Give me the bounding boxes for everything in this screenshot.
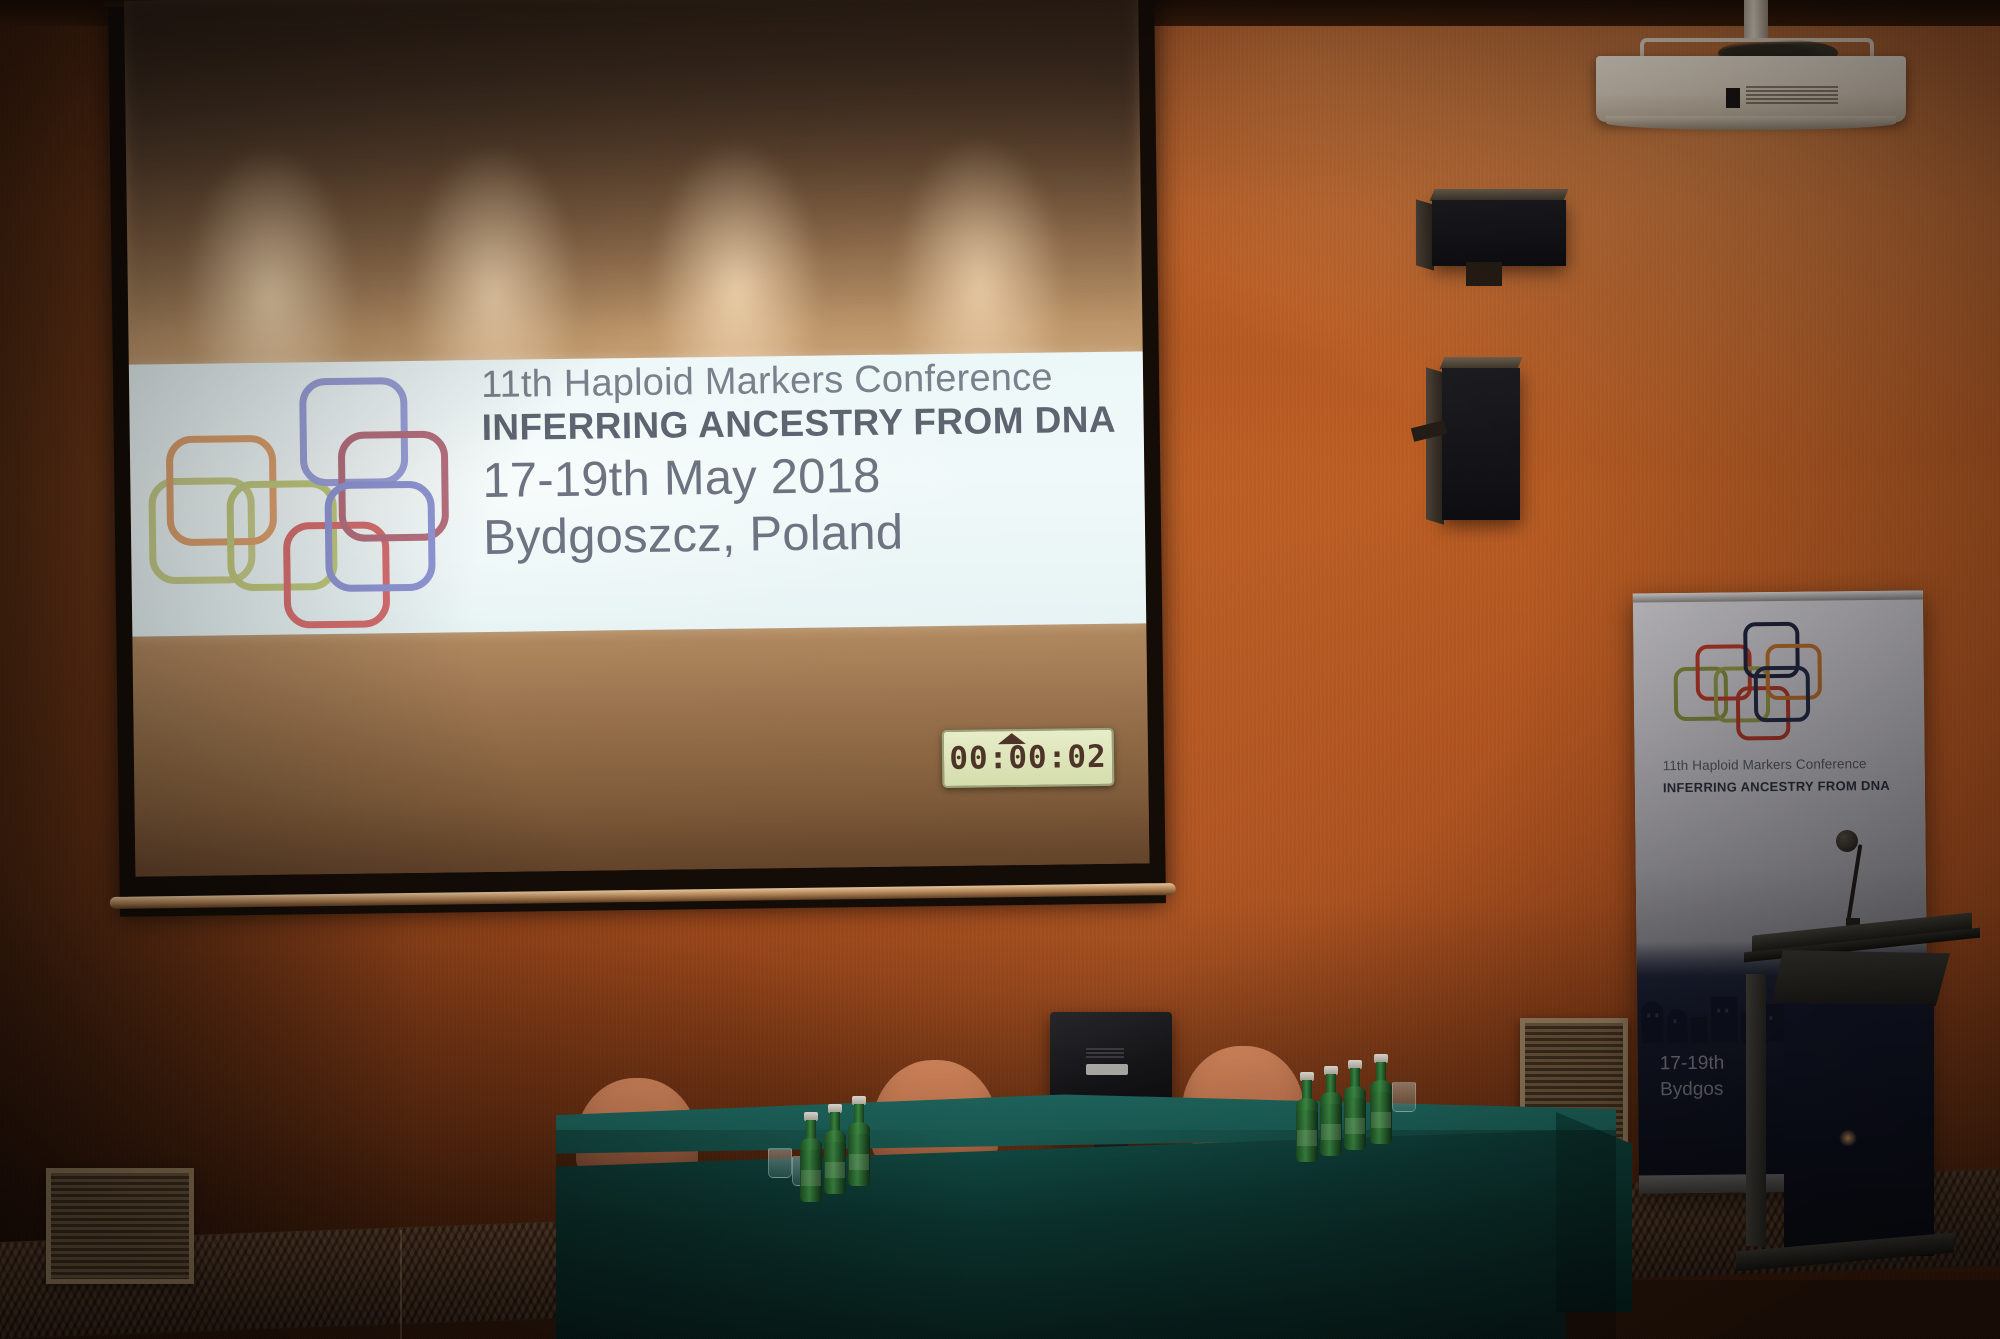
timer-value: 00:00:02 [949, 739, 1107, 777]
bottle-neck [806, 1120, 816, 1140]
bottle-label [1321, 1124, 1341, 1140]
bottle-neck [1376, 1062, 1386, 1082]
projector-label [1746, 86, 1838, 104]
projection-screen: 11th Haploid Markers Conference INFERRIN… [108, 0, 1166, 917]
speaker-bracket-upper [1466, 262, 1502, 286]
floor-seam [400, 1230, 402, 1339]
bottle-neck [1302, 1080, 1312, 1100]
logo-square-periwinkle-bottom [324, 481, 435, 592]
screen-surface: 11th Haploid Markers Conference INFERRIN… [124, 0, 1149, 877]
speaker-lectern [1770, 912, 1960, 1280]
microphone-icon [1836, 830, 1858, 852]
bottle-label [1371, 1112, 1391, 1128]
slide-theme: INFERRING ANCESTRY FROM DNA [481, 398, 1149, 449]
slide-logo [147, 374, 480, 618]
countdown-timer[interactable]: 00:00:02 [942, 728, 1115, 788]
table-shading [556, 1130, 1616, 1339]
slide-text-block: 11th Haploid Markers Conference INFERRIN… [481, 356, 1150, 568]
presenters-table [556, 1090, 1616, 1339]
bottle-label [849, 1154, 869, 1170]
water-glass [1392, 1082, 1416, 1112]
timer-arrow-icon [998, 733, 1026, 744]
slide-location: Bydgoszcz, Poland [483, 500, 1150, 568]
slide-dates: 17-19th May 2018 [482, 443, 1149, 511]
bottle-neck [1326, 1074, 1336, 1094]
lectern-light-reflection [1838, 1130, 1858, 1146]
bottle-label [1345, 1118, 1365, 1134]
monitor-badge [1086, 1064, 1128, 1075]
wall-speaker-upper [1432, 200, 1566, 266]
projector-body [1596, 56, 1906, 122]
wall-vent-left [46, 1168, 194, 1284]
speaker-grille [1442, 368, 1520, 520]
monitor-vent [1086, 1048, 1124, 1058]
lectern-reading-slope [1772, 950, 1950, 1006]
projector-port [1726, 88, 1740, 108]
speaker-grille [1432, 200, 1566, 266]
slide-content-band: 11th Haploid Markers Conference INFERRIN… [129, 351, 1146, 636]
water-glass [768, 1148, 792, 1178]
bottle-neck [1350, 1068, 1360, 1088]
projector-pole [1744, 0, 1768, 42]
bottle-neck [854, 1104, 864, 1124]
lectern-side-post [1746, 974, 1766, 1246]
bottle-label [825, 1162, 845, 1178]
lectern-column [1784, 1004, 1934, 1256]
wall-speaker-lower [1442, 368, 1520, 520]
conference-hall-scene: 11th Haploid Markers Conference INFERRIN… [0, 0, 2000, 1339]
bottle-label [1297, 1130, 1317, 1146]
slide-conference-name: 11th Haploid Markers Conference [481, 356, 1150, 406]
bottle-label [801, 1170, 821, 1186]
bottle-neck [830, 1112, 840, 1132]
